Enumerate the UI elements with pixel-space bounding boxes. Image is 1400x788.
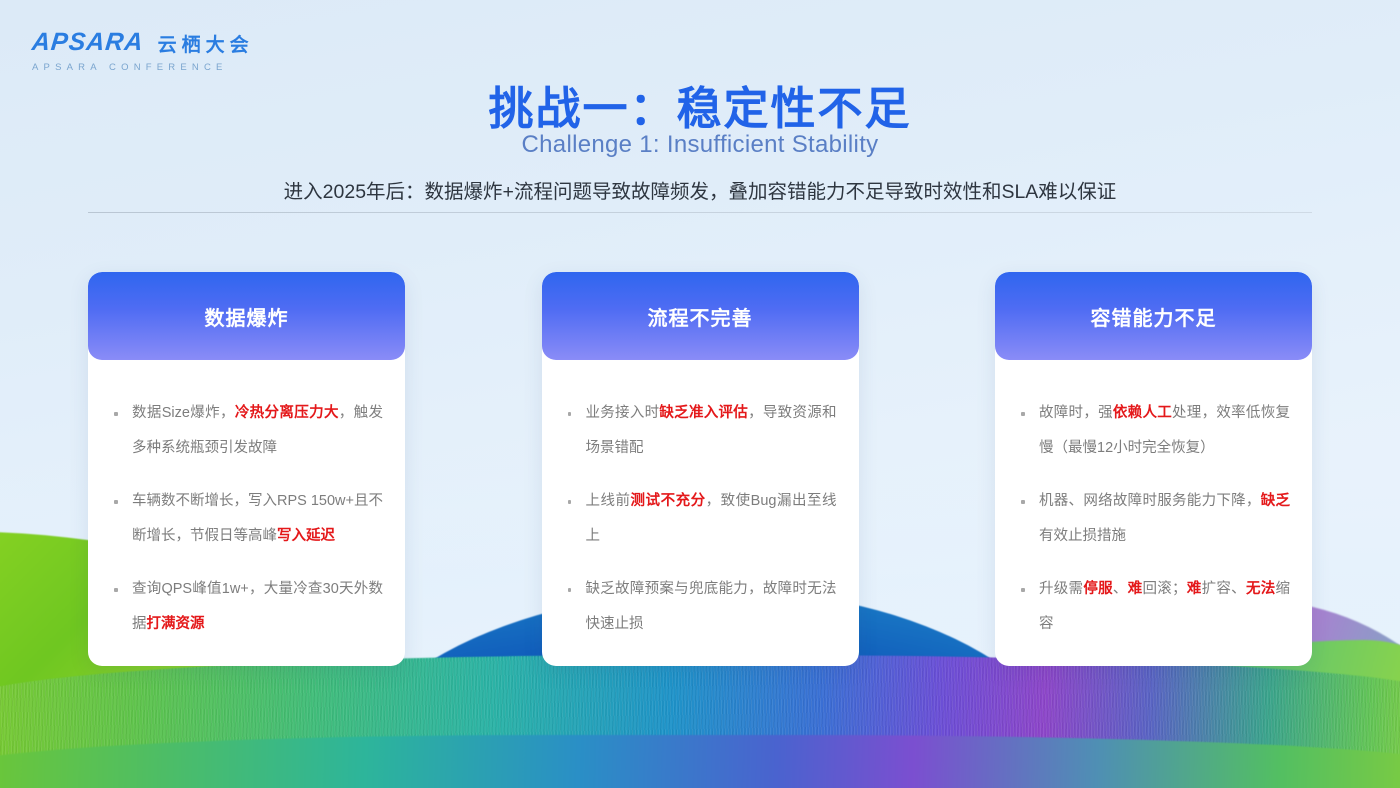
card-body-imperfect-process: 业务接入时缺乏准入评估，导致资源和场景错配上线前测试不充分，致使Bug漏出至线上… [542,360,859,666]
highlighted-text: 停服 [1083,581,1113,597]
bullet-text: 数据Size爆炸， [132,405,235,421]
bullet-item: 故障时，强依赖人工处理，效率低恢复慢（最慢12小时完全恢复） [1017,396,1290,466]
highlighted-text: 难 [1187,581,1202,597]
bullet-item: 上线前测试不充分，致使Bug漏出至线上 [564,484,837,554]
bullet-item: 业务接入时缺乏准入评估，导致资源和场景错配 [564,396,837,466]
logo-wordmark-row: APSARA 云栖大会 [32,28,254,57]
highlighted-text: 难 [1128,581,1143,597]
bullet-text: 升级需 [1039,581,1083,597]
highlighted-text: 测试不充分 [631,493,706,509]
bullet-text: 上线前 [586,493,631,509]
logo-chinese-text: 云栖大会 [158,30,254,57]
page-subtitle: Challenge 1: Insufficient Stability [0,131,1400,159]
bullet-text: 、 [1113,581,1128,597]
card-body-fault-tolerance: 故障时，强依赖人工处理，效率低恢复慢（最慢12小时完全恢复）机器、网络故障时服务… [995,360,1312,666]
bullet-item: 车辆数不断增长，写入RPS 150w+且不断增长，节假日等高峰写入延迟 [110,484,383,554]
page-lede: 进入2025年后：数据爆炸+流程问题导致故障频发，叠加容错能力不足导致时效性和S… [0,175,1400,204]
bullet-text: 缺乏故障预案与兜底能力，故障时无法快速止损 [586,581,837,632]
bullet-text: 回滚； [1142,581,1186,597]
card-header-imperfect-process: 流程不完善 [542,272,859,360]
highlighted-text: 缺乏 [1261,493,1290,509]
bullet-item: 机器、网络故障时服务能力下降，缺乏有效止损措施 [1017,484,1290,554]
page-title: 挑战一：稳定性不足 [0,72,1400,137]
bullet-list-fault-tolerance: 故障时，强依赖人工处理，效率低恢复慢（最慢12小时完全恢复）机器、网络故障时服务… [1017,396,1290,642]
grass-field-decor [0,655,1400,788]
challenge-card-list: 数据爆炸 数据Size爆炸，冷热分离压力大，触发多种系统瓶颈引发故障车辆数不断增… [88,272,1312,666]
bullet-item: 缺乏故障预案与兜底能力，故障时无法快速止损 [564,572,837,642]
bullet-item: 数据Size爆炸，冷热分离压力大，触发多种系统瓶颈引发故障 [110,396,383,466]
bullet-list-imperfect-process: 业务接入时缺乏准入评估，导致资源和场景错配上线前测试不充分，致使Bug漏出至线上… [564,396,837,642]
card-header-fault-tolerance: 容错能力不足 [995,272,1312,360]
card-header-data-explosion: 数据爆炸 [88,272,405,360]
apsara-logo: APSARA 云栖大会 APSARA CONFERENCE [32,28,254,73]
bullet-text: 故障时，强 [1039,405,1113,421]
card-body-data-explosion: 数据Size爆炸，冷热分离压力大，触发多种系统瓶颈引发故障车辆数不断增长，写入R… [88,360,405,666]
highlighted-text: 写入延迟 [277,528,335,544]
bullet-list-data-explosion: 数据Size爆炸，冷热分离压力大，触发多种系统瓶颈引发故障车辆数不断增长，写入R… [110,396,383,642]
challenge-card-fault-tolerance: 容错能力不足 故障时，强依赖人工处理，效率低恢复慢（最慢12小时完全恢复）机器、… [995,272,1312,666]
bullet-text: 扩容、 [1202,581,1246,597]
logo-apsara-text: APSARA [30,28,145,57]
bullet-text: 车辆数不断增长，写入RPS 150w+且不断增长，节假日等高峰 [132,493,383,544]
highlighted-text: 打满资源 [147,616,205,632]
grass-texture-decor [0,655,1400,788]
slide-root: APSARA 云栖大会 APSARA CONFERENCE 挑战一：稳定性不足 … [0,0,1400,788]
grass-foreground-decor [0,735,1400,788]
challenge-card-data-explosion: 数据爆炸 数据Size爆炸，冷热分离压力大，触发多种系统瓶颈引发故障车辆数不断增… [88,272,405,666]
highlighted-text: 无法 [1246,581,1276,597]
highlighted-text: 冷热分离压力大 [235,405,339,421]
header-divider [88,212,1312,213]
challenge-card-imperfect-process: 流程不完善 业务接入时缺乏准入评估，导致资源和场景错配上线前测试不充分，致使Bu… [542,272,859,666]
bullet-text: 机器、网络故障时服务能力下降， [1039,493,1261,509]
bullet-item: 查询QPS峰值1w+，大量冷查30天外数据打满资源 [110,572,383,642]
bullet-text: 业务接入时 [586,405,660,421]
highlighted-text: 缺乏准入评估 [659,405,748,421]
bullet-item: 升级需停服、难回滚；难扩容、无法缩容 [1017,572,1290,642]
highlighted-text: 依赖人工 [1113,405,1172,421]
bullet-text: 有效止损措施 [1039,528,1126,544]
